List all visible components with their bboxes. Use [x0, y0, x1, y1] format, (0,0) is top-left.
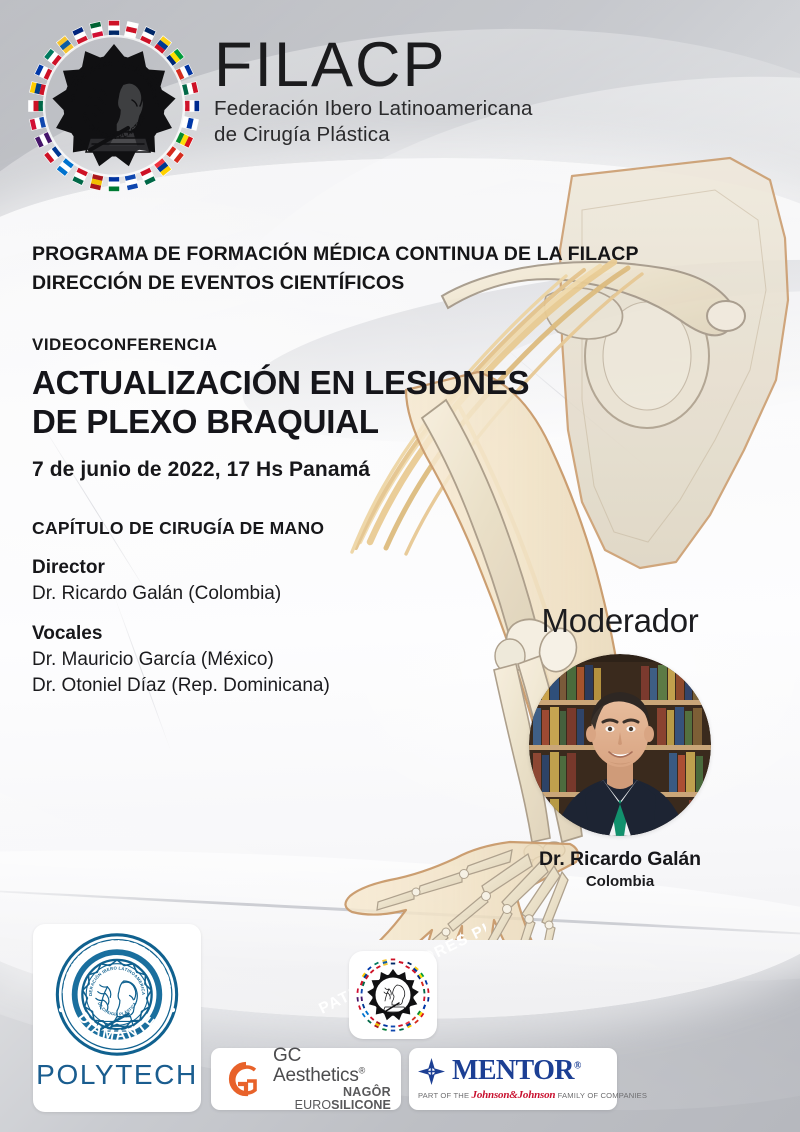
moderator-heading: Moderador: [470, 602, 770, 640]
talk-title-line2: DE PLEXO BRAQUIAL: [32, 402, 612, 441]
gc-sub-eurosilicone: EUROSILICONE: [273, 1099, 391, 1112]
logo-wordmark: FILACP Federación Ibero Latinoamericana …: [214, 20, 533, 148]
mentor-star-icon: [418, 1058, 445, 1085]
chapter-block: CAPÍTULO DE CIRUGÍA DE MANO Director Dr.…: [32, 518, 462, 715]
gc-wordmark: GC Aesthetics® NAGÔR EUROSILICONE: [273, 1046, 391, 1112]
johnson-johnson-wordmark: Johnson&Johnson: [472, 1089, 556, 1101]
program-line-2: DIRECCIÓN DE EVENTOS CIENTÍFICOS: [32, 269, 752, 298]
diamond-seal-outer-top: PATROCINADOR GLOBAL DE FILACP: [42, 931, 173, 994]
person-name: Dr. Ricardo Galán (Colombia): [32, 581, 462, 606]
mentor-brand-text: MENTOR: [452, 1055, 574, 1086]
mentor-trademark: ®: [574, 1061, 581, 1072]
talk-datetime: 7 de junio de 2022, 17 Hs Panamá: [32, 458, 612, 482]
gc-brand-text: GC Aesthetics: [273, 1045, 359, 1086]
chapter-name: CAPÍTULO DE CIRUGÍA DE MANO: [32, 518, 462, 539]
moderator-portrait: [529, 654, 711, 836]
gc-brand-name: GC Aesthetics®: [273, 1046, 391, 1086]
filacp-flag-ring-seal-icon: FEDERACIÓN IBERO LATINOAMERICANA DE CIRU…: [28, 20, 200, 192]
gc-monogram-icon: [221, 1056, 267, 1102]
person-name: Dr. Otoniel Díaz (Rep. Dominicana): [32, 673, 462, 698]
logo-subtitle-line2: de Cirugía Plástica: [214, 122, 533, 148]
sponsor-card-polytech[interactable]: FEDERACIÓN IBERO LATINOAMERICANA DE CIRU…: [33, 924, 201, 1112]
program-line-1: PROGRAMA DE FORMACIÓN MÉDICA CONTINUA DE…: [32, 240, 752, 269]
role-label: Vocales: [32, 623, 462, 645]
role-label: Director: [32, 557, 462, 579]
logo-acronym: FILACP: [214, 36, 533, 96]
polytech-wordmark: POLYTECH: [36, 1059, 198, 1091]
gc-sub-silicone: SILICONE: [331, 1098, 391, 1112]
filacp-flag-ring-seal-icon-small: [356, 958, 430, 1032]
sponsor-card-mentor[interactable]: MENTOR® PART OF THE Johnson&Johnson FAMI…: [409, 1048, 617, 1110]
svg-text:PATROCINADOR GLOBAL DE FILACP: PATROCINADOR GLOBAL DE FILACP: [42, 931, 173, 994]
person-name: Dr. Mauricio García (México): [32, 647, 462, 672]
gc-trademark: ®: [359, 1066, 365, 1076]
mentor-wordmark: MENTOR®: [452, 1057, 581, 1085]
filacp-logo: FEDERACIÓN IBERO LATINOAMERICANA DE CIRU…: [28, 20, 533, 192]
mentor-tagline-post: FAMILY OF COMPANIES: [558, 1091, 648, 1100]
mentor-tagline-pre: PART OF THE: [418, 1091, 469, 1100]
event-type-kicker: VIDEOCONFERENCIA: [32, 335, 612, 355]
role-group-vocales: Vocales Dr. Mauricio García (México) Dr.…: [32, 623, 462, 698]
gc-sub-euro: EURO: [295, 1098, 332, 1112]
talk-block: VIDEOCONFERENCIA ACTUALIZACIÓN EN LESION…: [32, 335, 612, 482]
poster-canvas: FEDERACIÓN IBERO LATINOAMERICANA DE CIRU…: [0, 0, 800, 1132]
mentor-lockup: MENTOR®: [418, 1057, 608, 1085]
program-heading: PROGRAMA DE FORMACIÓN MÉDICA CONTINUA DE…: [32, 240, 752, 298]
moderator-block: Moderador: [470, 602, 770, 890]
sponsor-card-filacp[interactable]: [349, 951, 437, 1039]
patrocinador-global-diamante-seal-icon: FEDERACIÓN IBERO LATINOAMERICANA DE CIRU…: [42, 931, 192, 1058]
moderator-name: Dr. Ricardo Galán: [470, 848, 770, 871]
moderator-country: Colombia: [470, 873, 770, 890]
role-group-director: Director Dr. Ricardo Galán (Colombia): [32, 557, 462, 606]
talk-title-line1: ACTUALIZACIÓN EN LESIONES: [32, 363, 612, 402]
mentor-tagline: PART OF THE Johnson&Johnson FAMILY OF CO…: [418, 1089, 608, 1101]
sponsor-card-gc-aesthetics[interactable]: GC Aesthetics® NAGÔR EUROSILICONE: [211, 1048, 401, 1110]
logo-subtitle-line1: Federación Ibero Latinoamericana: [214, 96, 533, 122]
